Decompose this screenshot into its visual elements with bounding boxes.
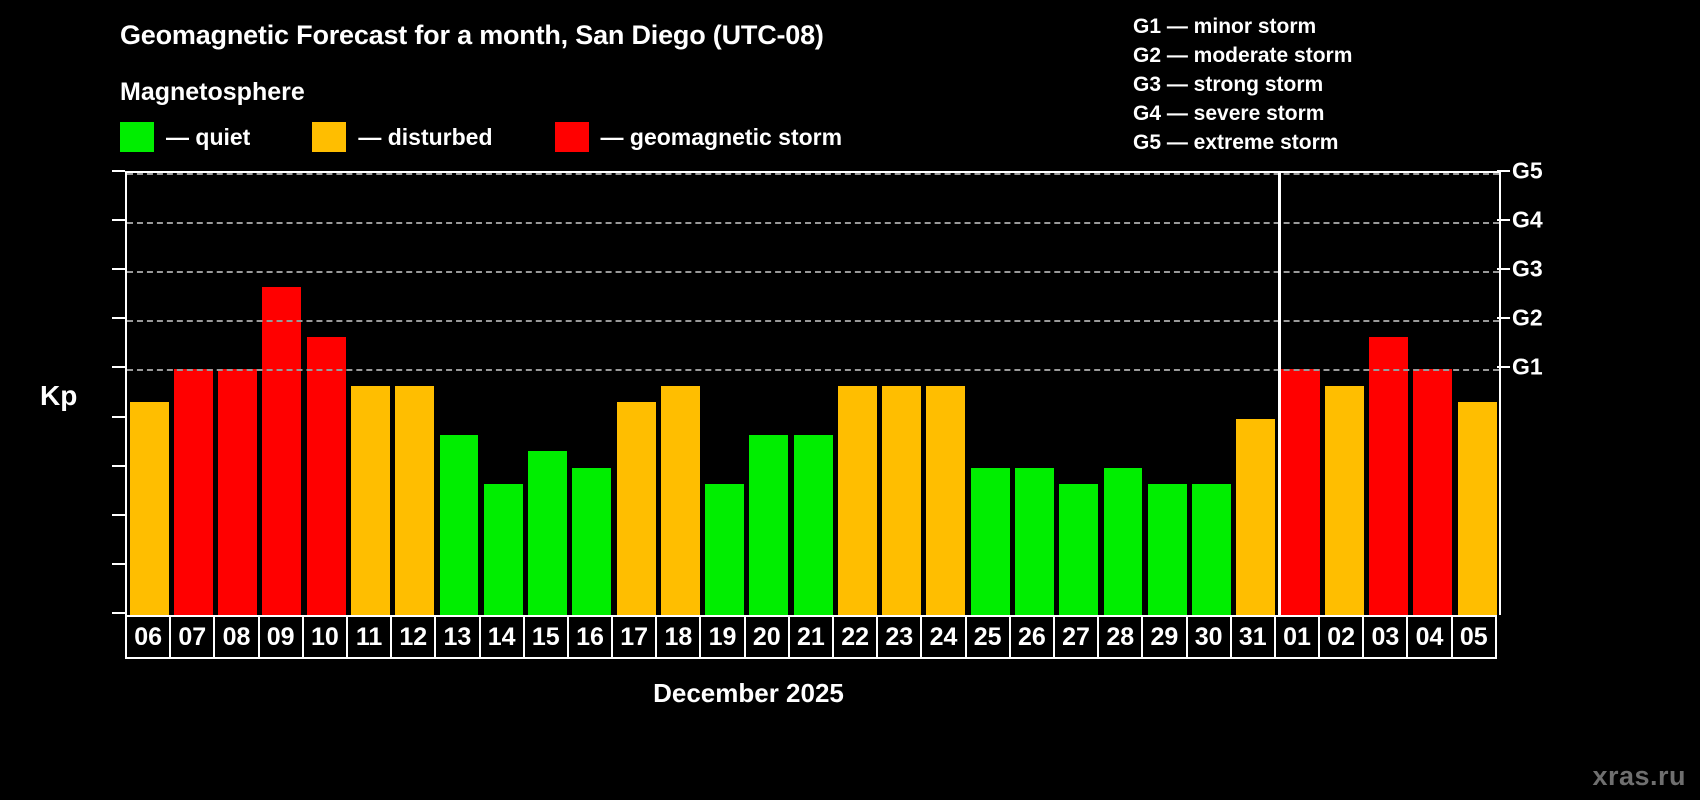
y-tick-mark-6	[112, 317, 125, 319]
bar-slot-26[interactable]	[1012, 173, 1056, 615]
day-label-06[interactable]: 06	[125, 615, 171, 659]
legend-swatch-disturbed	[312, 122, 346, 152]
bar-19[interactable]	[705, 484, 744, 615]
bar-slot-25[interactable]	[968, 173, 1012, 615]
legend-label-geomagnetic-storm: — geomagnetic storm	[601, 124, 843, 151]
bar-slot-30[interactable]	[1189, 173, 1233, 615]
bar-series	[127, 173, 1499, 615]
bar-slot-02[interactable]	[1322, 173, 1366, 615]
day-label-31[interactable]: 31	[1230, 615, 1276, 659]
magnetosphere-legend: — quiet— disturbed— geomagnetic storm	[120, 122, 904, 152]
day-label-16[interactable]: 16	[567, 615, 613, 659]
legend-swatch-quiet	[120, 122, 154, 152]
legend-item-disturbed: — disturbed	[312, 122, 492, 152]
bar-22[interactable]	[838, 386, 877, 615]
bar-slot-23[interactable]	[880, 173, 924, 615]
y-tick-mark-5	[112, 366, 125, 368]
bar-21[interactable]	[794, 435, 833, 615]
day-label-11[interactable]: 11	[346, 615, 392, 659]
day-label-13[interactable]: 13	[434, 615, 480, 659]
day-label-29[interactable]: 29	[1141, 615, 1187, 659]
bar-slot-17[interactable]	[614, 173, 658, 615]
day-label-14[interactable]: 14	[479, 615, 525, 659]
g-tick-label-G4: G4	[1512, 207, 1543, 234]
bar-23[interactable]	[882, 386, 921, 615]
bar-04[interactable]	[1413, 369, 1452, 615]
bar-slot-10[interactable]	[304, 173, 348, 615]
bar-slot-20[interactable]	[747, 173, 791, 615]
day-label-08[interactable]: 08	[213, 615, 259, 659]
day-label-09[interactable]: 09	[258, 615, 304, 659]
g-tick-label-G2: G2	[1512, 305, 1543, 332]
day-label-05[interactable]: 05	[1451, 615, 1497, 659]
bar-03[interactable]	[1369, 337, 1408, 615]
bar-slot-14[interactable]	[481, 173, 525, 615]
bar-08[interactable]	[218, 369, 257, 615]
day-label-10[interactable]: 10	[302, 615, 348, 659]
gscale-key: G1 — minor stormG2 — moderate stormG3 — …	[1133, 12, 1352, 157]
bar-05[interactable]	[1458, 402, 1497, 615]
bar-slot-12[interactable]	[393, 173, 437, 615]
gscale-row-3: G3 — strong storm	[1133, 70, 1352, 99]
bar-slot-13[interactable]	[437, 173, 481, 615]
legend-item-quiet: — quiet	[120, 122, 250, 152]
bar-slot-19[interactable]	[702, 173, 746, 615]
bar-slot-15[interactable]	[525, 173, 569, 615]
day-label-21[interactable]: 21	[788, 615, 834, 659]
day-label-02[interactable]: 02	[1318, 615, 1364, 659]
day-label-19[interactable]: 19	[699, 615, 745, 659]
day-label-28[interactable]: 28	[1097, 615, 1143, 659]
bar-slot-11[interactable]	[348, 173, 392, 615]
bar-slot-31[interactable]	[1234, 173, 1278, 615]
legend-label-disturbed: — disturbed	[358, 124, 492, 151]
bar-slot-05[interactable]	[1455, 173, 1499, 615]
bar-20[interactable]	[749, 435, 788, 615]
day-label-25[interactable]: 25	[965, 615, 1011, 659]
day-label-20[interactable]: 20	[744, 615, 790, 659]
plot-area	[125, 171, 1501, 615]
y-tick-mark-7	[112, 268, 125, 270]
bar-14[interactable]	[484, 484, 523, 615]
bar-31[interactable]	[1236, 419, 1275, 615]
day-label-01[interactable]: 01	[1274, 615, 1320, 659]
day-label-03[interactable]: 03	[1362, 615, 1408, 659]
gscale-row-1: G1 — minor storm	[1133, 12, 1352, 41]
bar-11[interactable]	[351, 386, 390, 615]
bar-07[interactable]	[174, 369, 213, 615]
legend-item-geomagnetic-storm: — geomagnetic storm	[555, 122, 843, 152]
day-label-23[interactable]: 23	[876, 615, 922, 659]
legend-swatch-geomagnetic-storm	[555, 122, 589, 152]
bar-slot-27[interactable]	[1057, 173, 1101, 615]
g-tick-label-G3: G3	[1512, 256, 1543, 283]
y-tick-mark-2	[112, 514, 125, 516]
bar-06[interactable]	[130, 402, 169, 615]
g-tick-label-G5: G5	[1512, 158, 1543, 185]
x-axis-label: December 2025	[0, 678, 1497, 709]
bar-02[interactable]	[1325, 386, 1364, 615]
y-tick-mark-8	[112, 219, 125, 221]
bar-25[interactable]	[971, 468, 1010, 615]
bar-27[interactable]	[1059, 484, 1098, 615]
y-axis-label: Kp	[40, 380, 77, 412]
day-label-26[interactable]: 26	[1009, 615, 1055, 659]
bar-18[interactable]	[661, 386, 700, 615]
bar-29[interactable]	[1148, 484, 1187, 615]
plot-inner	[127, 173, 1499, 615]
gridline-kp-8	[127, 222, 1499, 224]
gscale-row-5: G5 — extreme storm	[1133, 128, 1352, 157]
gridline-kp-5	[127, 369, 1499, 371]
bar-slot-16[interactable]	[570, 173, 614, 615]
bar-slot-07[interactable]	[171, 173, 215, 615]
y-tick-mark-9	[112, 170, 125, 172]
bar-17[interactable]	[617, 402, 656, 615]
bar-slot-03[interactable]	[1366, 173, 1410, 615]
magnetosphere-section-label: Magnetosphere	[120, 78, 305, 107]
bar-15[interactable]	[528, 451, 567, 615]
bar-slot-04[interactable]	[1411, 173, 1455, 615]
gridline-kp-7	[127, 271, 1499, 273]
day-label-04[interactable]: 04	[1406, 615, 1452, 659]
day-label-24[interactable]: 24	[920, 615, 966, 659]
bar-24[interactable]	[926, 386, 965, 615]
g-tick-label-G1: G1	[1512, 354, 1543, 381]
watermark: xras.ru	[1592, 761, 1686, 792]
bar-slot-22[interactable]	[835, 173, 879, 615]
bar-slot-01[interactable]	[1278, 173, 1322, 615]
day-label-22[interactable]: 22	[832, 615, 878, 659]
bar-slot-06[interactable]	[127, 173, 171, 615]
geomagnetic-forecast-chart: Geomagnetic Forecast for a month, San Di…	[0, 0, 1700, 800]
bar-slot-24[interactable]	[924, 173, 968, 615]
gridline-kp-6	[127, 320, 1499, 322]
y-tick-mark-4	[112, 416, 125, 418]
y-tick-mark-3	[112, 465, 125, 467]
gscale-row-2: G2 — moderate storm	[1133, 41, 1352, 70]
bar-13[interactable]	[440, 435, 479, 615]
forecast-divider	[1278, 171, 1281, 615]
bar-slot-28[interactable]	[1101, 173, 1145, 615]
day-label-17[interactable]: 17	[611, 615, 657, 659]
bar-12[interactable]	[395, 386, 434, 615]
bar-slot-09[interactable]	[260, 173, 304, 615]
bar-09[interactable]	[262, 287, 301, 615]
day-label-30[interactable]: 30	[1186, 615, 1232, 659]
bar-slot-08[interactable]	[216, 173, 260, 615]
bar-26[interactable]	[1015, 468, 1054, 615]
y-tick-mark-1	[112, 563, 125, 565]
day-label-27[interactable]: 27	[1053, 615, 1099, 659]
gridline-kp-9	[127, 173, 1499, 175]
bar-01[interactable]	[1281, 369, 1320, 615]
bar-10[interactable]	[307, 337, 346, 615]
page-title: Geomagnetic Forecast for a month, San Di…	[120, 20, 824, 51]
bar-16[interactable]	[572, 468, 611, 615]
day-label-12[interactable]: 12	[390, 615, 436, 659]
day-label-15[interactable]: 15	[523, 615, 569, 659]
bar-slot-21[interactable]	[791, 173, 835, 615]
bar-28[interactable]	[1104, 468, 1143, 615]
y-tick-mark-0	[112, 612, 125, 614]
day-label-18[interactable]: 18	[655, 615, 701, 659]
x-axis-day-labels: 0607080910111213141516171819202122232425…	[125, 615, 1497, 659]
bar-30[interactable]	[1192, 484, 1231, 615]
gscale-row-4: G4 — severe storm	[1133, 99, 1352, 128]
bar-slot-18[interactable]	[658, 173, 702, 615]
bar-slot-29[interactable]	[1145, 173, 1189, 615]
legend-label-quiet: — quiet	[166, 124, 250, 151]
day-label-07[interactable]: 07	[169, 615, 215, 659]
